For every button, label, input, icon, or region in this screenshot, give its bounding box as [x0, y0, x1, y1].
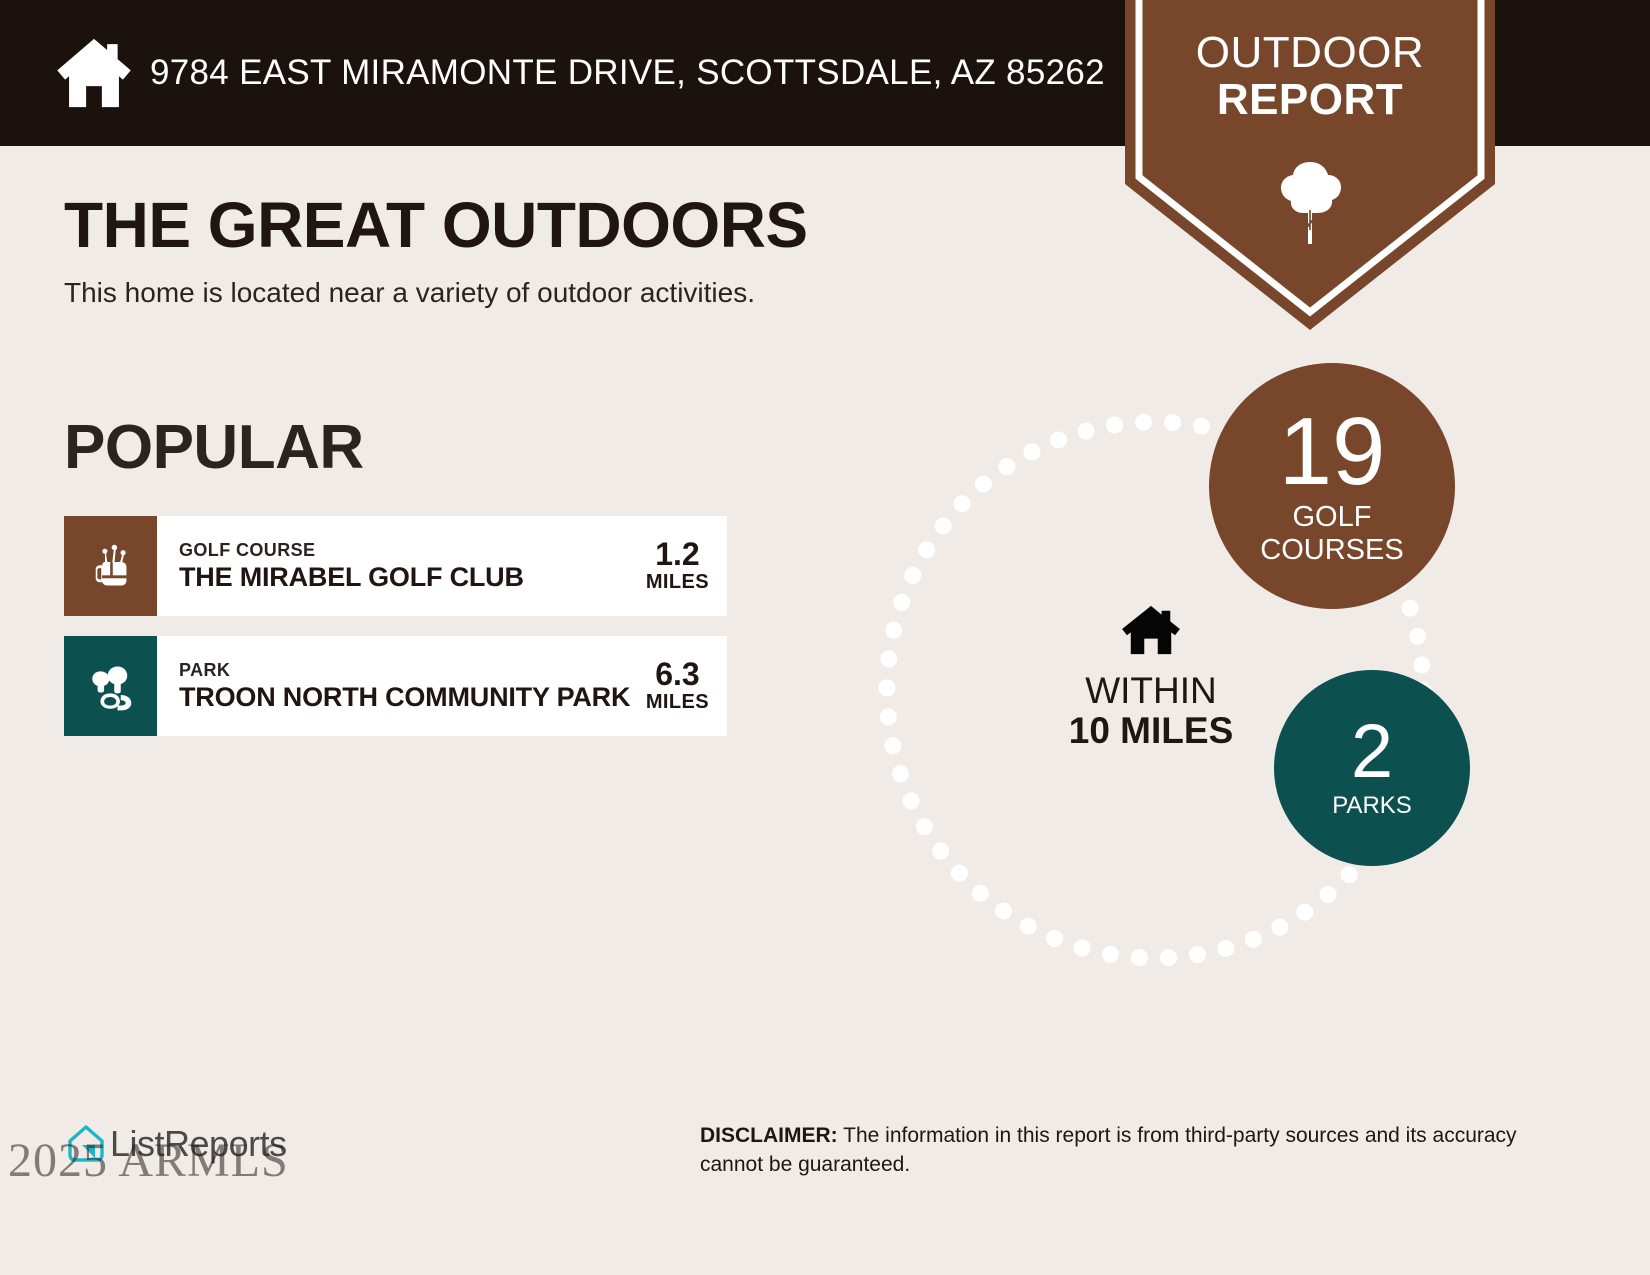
- listreports-logo-text: ListReports: [110, 1123, 287, 1165]
- poi-category: GOLF COURSE: [179, 539, 524, 562]
- park-tree-icon: [85, 660, 137, 712]
- poi-name: THE MIRABEL GOLF CLUB: [179, 561, 524, 593]
- poi-distance-unit: MILES: [646, 691, 709, 714]
- outdoor-report-badge: OUTDOOR REPORT: [1125, 0, 1495, 330]
- stat-golf-label-line1: GOLF: [1293, 501, 1372, 533]
- property-address: 9784 EAST MIRAMONTE DRIVE, SCOTTSDALE, A…: [150, 53, 1105, 93]
- within-label-line2: 10 MILES: [1031, 711, 1271, 752]
- stat-golf-value: 19: [1279, 406, 1386, 497]
- poi-body: GOLF COURSE THE MIRABEL GOLF CLUB 1.2 MI…: [157, 516, 727, 616]
- title-block: THE GREAT OUTDOORS This home is located …: [64, 190, 808, 310]
- stat-golf-label: GOLF COURSES: [1260, 501, 1403, 566]
- stat-parks: 2 PARKS: [1274, 670, 1470, 866]
- list-item[interactable]: GOLF COURSE THE MIRABEL GOLF CLUB 1.2 MI…: [64, 516, 727, 616]
- stat-parks-label: PARKS: [1332, 793, 1412, 820]
- tree-icon: [1277, 158, 1343, 248]
- stat-golf-courses: 19 GOLF COURSES: [1209, 363, 1455, 609]
- poi-body: PARK TROON NORTH COMMUNITY PARK 6.3 MILE…: [157, 636, 727, 736]
- poi-distance: 1.2 MILES: [632, 538, 709, 595]
- poi-distance-value: 1.2: [646, 538, 709, 572]
- home-icon: [1120, 604, 1182, 656]
- poi-icon-box: [64, 636, 157, 736]
- page-subtitle: This home is located near a variety of o…: [64, 276, 808, 310]
- poi-distance-value: 6.3: [646, 658, 709, 692]
- poi-icon-box: [64, 516, 157, 616]
- stat-golf-label-line2: COURSES: [1260, 534, 1403, 566]
- disclaimer-label: DISCLAIMER:: [700, 1124, 838, 1147]
- listreports-logo[interactable]: ListReports: [64, 1122, 287, 1166]
- disclaimer: DISCLAIMER: The information in this repo…: [700, 1122, 1520, 1180]
- poi-labels: GOLF COURSE THE MIRABEL GOLF CLUB: [179, 539, 524, 594]
- golf-bag-icon: [85, 540, 137, 592]
- within-label-line1: WITHIN: [1031, 672, 1271, 711]
- home-icon: [52, 31, 136, 115]
- list-item[interactable]: PARK TROON NORTH COMMUNITY PARK 6.3 MILE…: [64, 636, 727, 736]
- poi-distance-unit: MILES: [646, 571, 709, 594]
- popular-heading: POPULAR: [64, 412, 364, 483]
- listreports-house-icon: [64, 1122, 108, 1166]
- poi-category: PARK: [179, 659, 630, 682]
- stat-parks-value: 2: [1351, 716, 1393, 788]
- within-radius-block: WITHIN 10 MILES: [1031, 604, 1271, 752]
- poi-name: TROON NORTH COMMUNITY PARK: [179, 681, 630, 713]
- page-title: THE GREAT OUTDOORS: [64, 190, 808, 260]
- poi-distance: 6.3 MILES: [632, 658, 709, 715]
- popular-list: GOLF COURSE THE MIRABEL GOLF CLUB 1.2 MI…: [64, 516, 727, 756]
- outdoor-infographic: WITHIN 10 MILES 19 GOLF COURSES 2 PARKS: [820, 340, 1520, 1040]
- poi-labels: PARK TROON NORTH COMMUNITY PARK: [179, 659, 630, 714]
